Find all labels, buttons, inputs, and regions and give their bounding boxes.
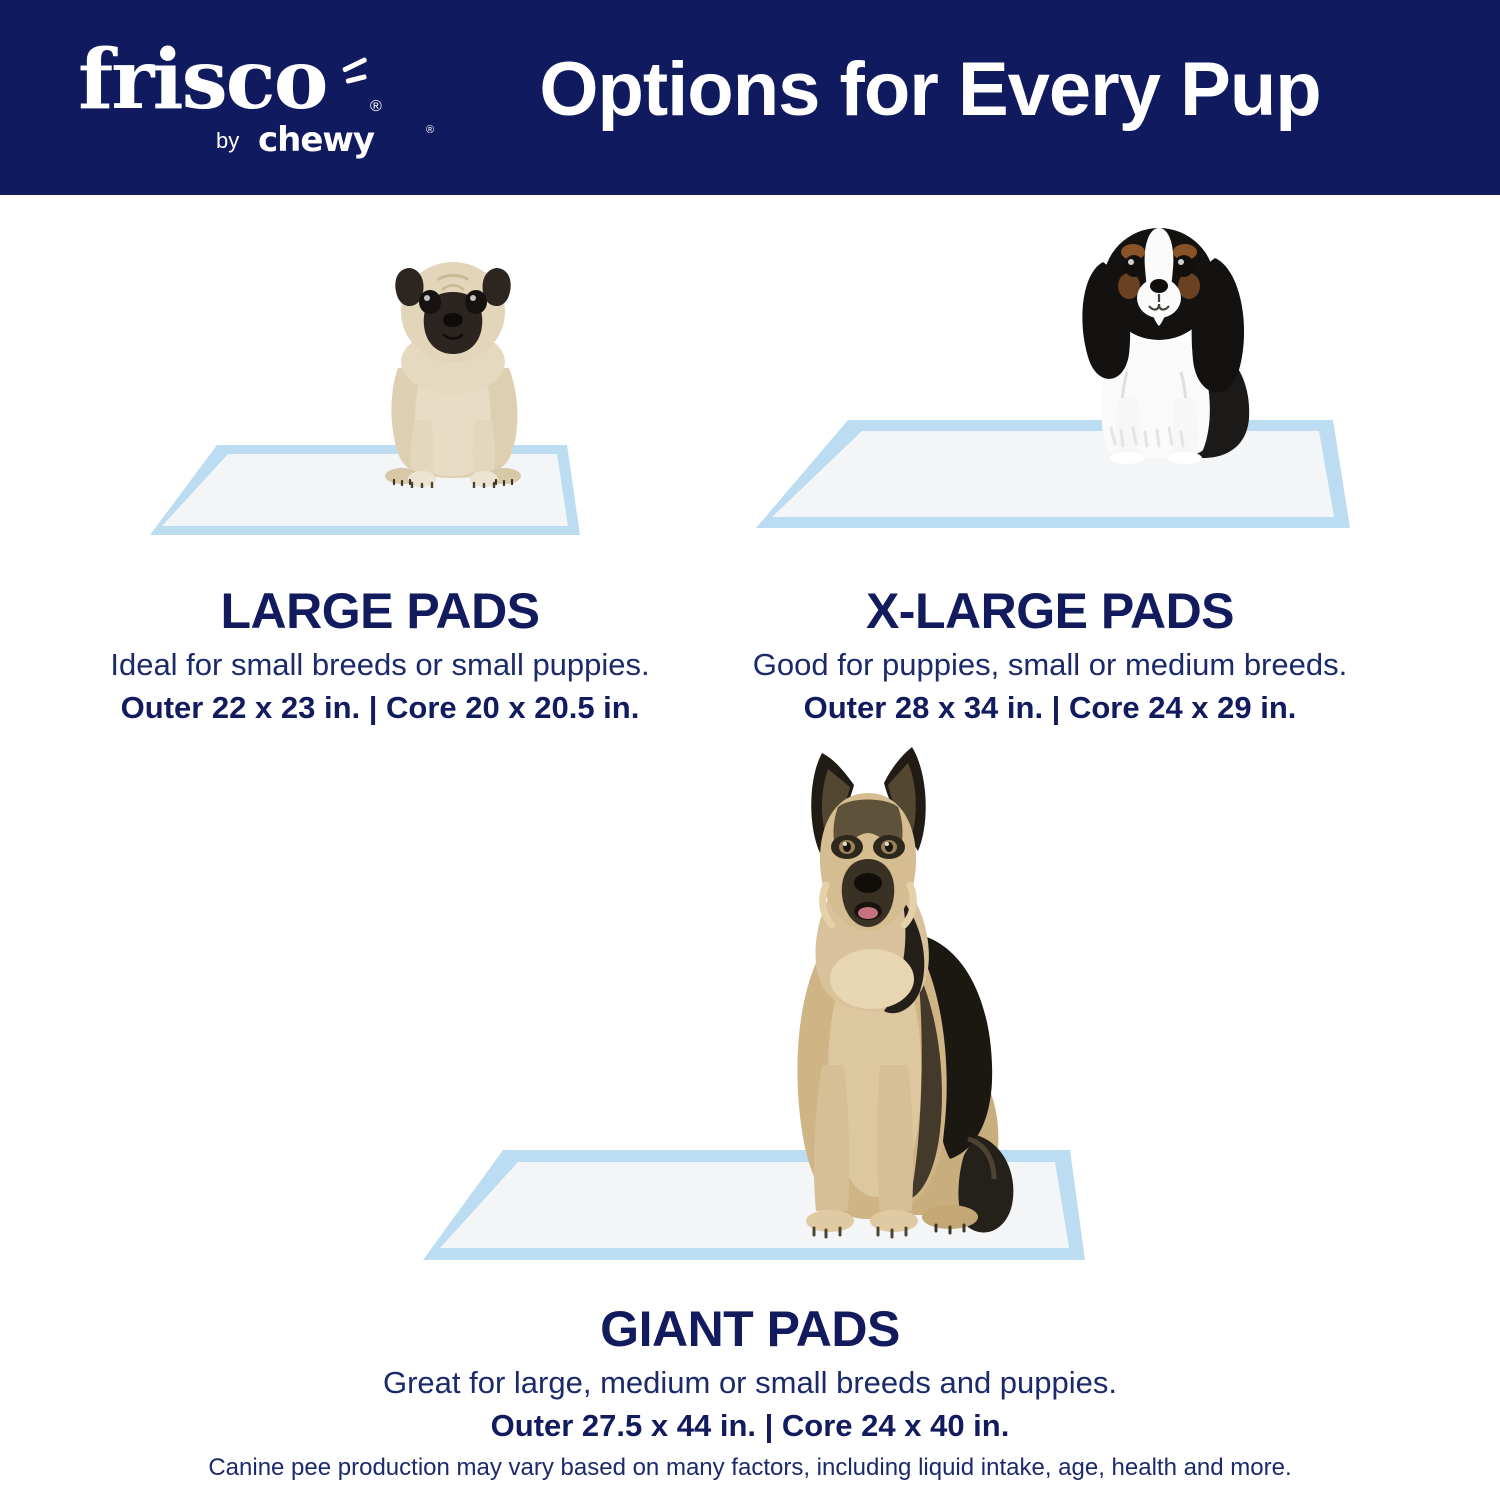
product-description-x-large: Good for puppies, small or medium breeds… xyxy=(700,644,1400,686)
dog-cavalier-king-charles-spaniel xyxy=(1063,212,1288,464)
header-bar: frisco ® by chewy ® Options for Every Pu… xyxy=(0,0,1500,195)
product-description-large: Ideal for small breeds or small puppies. xyxy=(30,644,730,686)
product-block-large: LARGE PADS Ideal for small breeds or sma… xyxy=(30,582,730,729)
infographic-page: frisco ® by chewy ® Options for Every Pu… xyxy=(0,0,1500,1500)
product-title-x-large: X-LARGE PADS xyxy=(700,582,1400,640)
product-title-giant: GIANT PADS xyxy=(150,1300,1350,1358)
dog-german-shepherd xyxy=(762,735,1057,1255)
frisco-logo: frisco ® by chewy ® xyxy=(78,36,378,166)
product-dimensions-large: Outer 22 x 23 in. | Core 20 x 20.5 in. xyxy=(30,687,730,729)
product-block-x-large: X-LARGE PADS Good for puppies, small or … xyxy=(700,582,1400,729)
logo-by-label: by xyxy=(216,128,239,154)
footnote-text: Canine pee production may vary based on … xyxy=(0,1452,1500,1484)
product-title-large: LARGE PADS xyxy=(30,582,730,640)
product-dimensions-x-large: Outer 28 x 34 in. | Core 24 x 29 in. xyxy=(700,687,1400,729)
dog-pug xyxy=(368,250,538,488)
product-block-giant: GIANT PADS Great for large, medium or sm… xyxy=(150,1300,1350,1447)
chewy-wordmark: chewy xyxy=(258,120,374,160)
frisco-wordmark: frisco xyxy=(78,36,326,124)
page-title: Options for Every Pup xyxy=(430,44,1430,136)
registered-trademark-icon: ® xyxy=(370,98,382,116)
swoosh-icon xyxy=(341,52,381,92)
product-dimensions-giant: Outer 27.5 x 44 in. | Core 24 x 40 in. xyxy=(150,1405,1350,1447)
product-description-giant: Great for large, medium or small breeds … xyxy=(150,1362,1350,1404)
